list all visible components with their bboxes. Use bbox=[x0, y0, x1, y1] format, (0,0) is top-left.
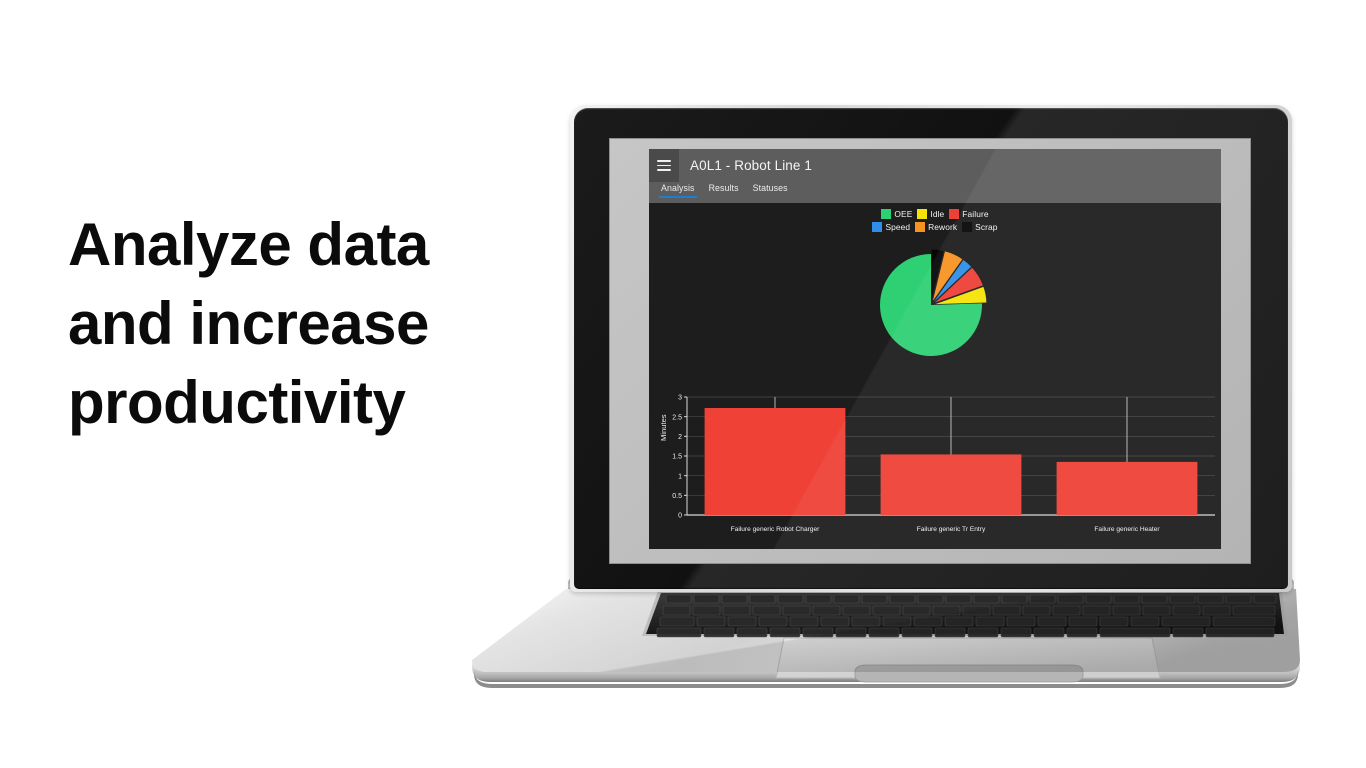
bar-3[interactable] bbox=[1057, 462, 1198, 515]
tab-active-indicator bbox=[659, 196, 697, 198]
y-tick-label: 1 bbox=[678, 473, 682, 480]
y-tick-label: 2 bbox=[678, 434, 682, 441]
y-tick-label: 3 bbox=[678, 395, 682, 402]
legend-item-oee[interactable]: OEE bbox=[881, 209, 912, 219]
legend-label-oee: OEE bbox=[894, 209, 912, 219]
app-header: A0L1 - Robot Line 1 bbox=[649, 149, 1221, 182]
legend-swatch-rework bbox=[915, 222, 925, 232]
tab-results[interactable]: Results bbox=[702, 182, 746, 193]
slide-canvas: Analyze data and increase productivity bbox=[0, 0, 1366, 768]
y-tick-label: 0 bbox=[678, 513, 682, 520]
failure-bar-chart[interactable]: Minutes 00.511.522.53Failure generic Rob… bbox=[649, 389, 1221, 549]
tab-bar: Analysis Results Statuses bbox=[649, 182, 1221, 203]
bar-1[interactable] bbox=[705, 408, 846, 515]
y-tick-label: 2.5 bbox=[672, 414, 682, 421]
legend-swatch-speed bbox=[872, 222, 882, 232]
app-title: A0L1 - Robot Line 1 bbox=[690, 158, 812, 173]
legend-row-2: Speed Rework Scrap bbox=[872, 222, 997, 232]
x-tick-label: Failure generic Heater bbox=[1094, 526, 1160, 533]
legend-label-speed: Speed bbox=[885, 222, 910, 232]
legend-label-scrap: Scrap bbox=[975, 222, 997, 232]
legend-swatch-failure bbox=[949, 209, 959, 219]
legend-label-rework: Rework bbox=[928, 222, 957, 232]
legend-item-rework[interactable]: Rework bbox=[915, 222, 957, 232]
legend-item-scrap[interactable]: Scrap bbox=[962, 222, 997, 232]
legend-swatch-scrap bbox=[962, 222, 972, 232]
y-tick-label: 1.5 bbox=[672, 454, 682, 461]
tab-statuses-label: Statuses bbox=[753, 183, 788, 193]
tab-analysis[interactable]: Analysis bbox=[654, 182, 702, 193]
legend-item-speed[interactable]: Speed bbox=[872, 222, 910, 232]
application-window: A0L1 - Robot Line 1 Analysis Results Sta… bbox=[649, 149, 1221, 549]
hamburger-icon[interactable] bbox=[649, 149, 679, 182]
x-tick-label: Failure generic Tr Entry bbox=[917, 526, 986, 533]
legend-label-failure: Failure bbox=[962, 209, 988, 219]
legend-label-idle: Idle bbox=[930, 209, 944, 219]
legend-swatch-idle bbox=[917, 209, 927, 219]
legend-row-1: OEE Idle Failure bbox=[881, 209, 988, 219]
y-tick-label: 0.5 bbox=[672, 493, 682, 500]
pie-svg bbox=[869, 242, 1001, 368]
bar-chart-y-axis-title: Minutes bbox=[659, 414, 668, 441]
analysis-canvas: OEE Idle Failure bbox=[649, 203, 1221, 549]
page-title: Analyze data and increase productivity bbox=[68, 205, 498, 442]
oee-pie-chart[interactable] bbox=[649, 241, 1221, 369]
legend-swatch-oee bbox=[881, 209, 891, 219]
bar-chart-svg: 00.511.522.53Failure generic Robot Charg… bbox=[649, 389, 1221, 549]
tab-statuses[interactable]: Statuses bbox=[746, 182, 795, 193]
tab-results-label: Results bbox=[709, 183, 739, 193]
x-tick-label: Failure generic Robot Charger bbox=[731, 526, 820, 533]
legend-item-idle[interactable]: Idle bbox=[917, 209, 944, 219]
tab-analysis-label: Analysis bbox=[661, 183, 695, 193]
legend-item-failure[interactable]: Failure bbox=[949, 209, 988, 219]
laptop-mockup: A0L1 - Robot Line 1 Analysis Results Sta… bbox=[470, 100, 1300, 690]
bar-2[interactable] bbox=[881, 454, 1022, 515]
pie-legend: OEE Idle Failure bbox=[649, 209, 1221, 232]
